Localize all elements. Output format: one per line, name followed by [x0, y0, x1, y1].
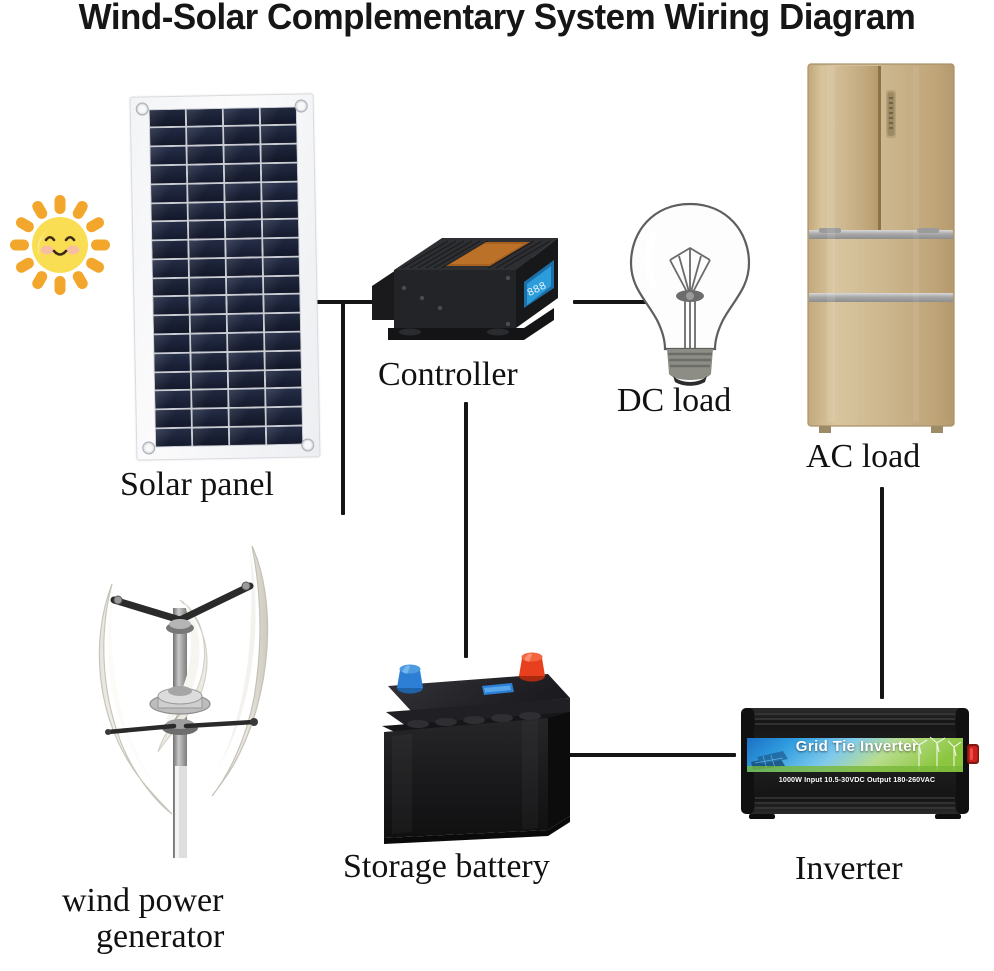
solar-cell: [263, 220, 298, 237]
solar-cell: [229, 390, 264, 407]
solar-cell: [151, 166, 186, 183]
solar-cell: [224, 108, 259, 125]
solar-cell: [188, 165, 223, 182]
solar-cell: [264, 276, 299, 293]
solar-cell: [225, 183, 260, 200]
panel-grommet: [136, 102, 149, 115]
solar-cell: [262, 201, 297, 218]
solar-cell: [226, 239, 261, 256]
solar-cell: [155, 391, 190, 408]
solar-cell: [193, 428, 228, 445]
solar-cell: [152, 241, 187, 258]
solar-cell: [225, 164, 260, 181]
label-storage-battery: Storage battery: [343, 850, 550, 885]
solar-cell: [227, 277, 262, 294]
label-controller: Controller: [378, 358, 518, 393]
wire-solar-bus-drop: [341, 300, 345, 515]
solar-cell: [228, 333, 263, 350]
solar-cell: [154, 297, 189, 314]
solar-cell: [192, 353, 227, 370]
solar-cell: [225, 202, 260, 219]
solar-cell: [188, 146, 223, 163]
solar-cell: [265, 351, 300, 368]
solar-cell: [193, 409, 228, 426]
wire-inverter-to-ac-load: [880, 487, 884, 699]
solar-cell: [265, 333, 300, 350]
solar-cell: [263, 257, 298, 274]
panel-grommet: [301, 438, 314, 451]
label-wind-generator-line1: wind power: [62, 884, 223, 919]
solar-cell: [152, 222, 187, 239]
solar-cell: [224, 127, 259, 144]
solar-cell: [156, 410, 191, 427]
light-bulb-icon: [615, 196, 765, 386]
solar-cell: [229, 371, 264, 388]
solar-cell: [228, 352, 263, 369]
battery-icon: [362, 652, 574, 857]
refrigerator-icon: [805, 62, 957, 442]
solar-cell: [190, 296, 225, 313]
solar-cell: [227, 296, 262, 313]
solar-cell: [192, 390, 227, 407]
solar-cell: [191, 334, 226, 351]
solar-cell: [189, 240, 224, 257]
solar-cell: [261, 107, 296, 124]
solar-cell: [263, 239, 298, 256]
charge-controller-icon: 888: [358, 228, 570, 348]
solar-cell: [187, 109, 222, 126]
solar-cell: [153, 278, 188, 295]
solar-cell: [155, 353, 190, 370]
solar-cell: [189, 221, 224, 238]
solar-cell: [230, 427, 265, 444]
solar-cell: [229, 408, 264, 425]
solar-cell: [188, 184, 223, 201]
solar-cell: [153, 260, 188, 277]
solar-cell: [267, 426, 302, 443]
label-solar-panel: Solar panel: [120, 468, 274, 503]
wire-controller-to-battery: [464, 402, 468, 658]
label-dc-load: DC load: [617, 384, 731, 419]
solar-panel-cell-grid: [149, 106, 303, 447]
solar-cell: [264, 314, 299, 331]
solar-cell: [154, 335, 189, 352]
solar-cell: [266, 408, 301, 425]
solar-cell: [155, 372, 190, 389]
panel-grommet: [295, 99, 308, 112]
solar-cell: [150, 109, 185, 126]
solar-cell: [266, 370, 301, 387]
wire-battery-to-inverter: [566, 753, 736, 757]
solar-cell: [264, 295, 299, 312]
solar-cell: [191, 315, 226, 332]
solar-cell: [261, 145, 296, 162]
solar-cell: [190, 278, 225, 295]
inverter-device-label: Grid Tie Inverter: [733, 738, 981, 755]
solar-cell: [187, 127, 222, 144]
solar-panel-icon: [130, 93, 321, 460]
label-inverter: Inverter: [795, 852, 903, 887]
solar-cell: [262, 182, 297, 199]
solar-cell: [226, 221, 261, 238]
solar-cell: [227, 258, 262, 275]
solar-cell: [156, 429, 191, 446]
solar-cell: [192, 372, 227, 389]
wiring-diagram-canvas: Wind-Solar Complementary System Wiring D…: [0, 0, 994, 971]
solar-cell: [189, 203, 224, 220]
solar-cell: [152, 203, 187, 220]
solar-cell: [262, 164, 297, 181]
solar-cell: [151, 147, 186, 164]
solar-cell: [150, 128, 185, 145]
solar-cell: [266, 389, 301, 406]
solar-cell: [154, 316, 189, 333]
grid-tie-inverter-icon: Grid Tie Inverter 1000W Input 10.5-30VDC…: [733, 700, 981, 825]
vertical-axis-wind-turbine-icon: [62, 528, 302, 858]
page-title: Wind-Solar Complementary System Wiring D…: [15, 0, 979, 38]
solar-cell: [224, 145, 259, 162]
panel-grommet: [142, 441, 155, 454]
sun-icon: [6, 190, 114, 300]
inverter-device-spec: 1000W Input 10.5-30VDC Output 180-260VAC: [733, 775, 981, 784]
solar-cell: [228, 314, 263, 331]
solar-cell: [190, 259, 225, 276]
label-wind-generator-line2: generator: [96, 920, 224, 955]
solar-cell: [261, 126, 296, 143]
solar-cell: [151, 184, 186, 201]
label-ac-load: AC load: [806, 440, 920, 475]
